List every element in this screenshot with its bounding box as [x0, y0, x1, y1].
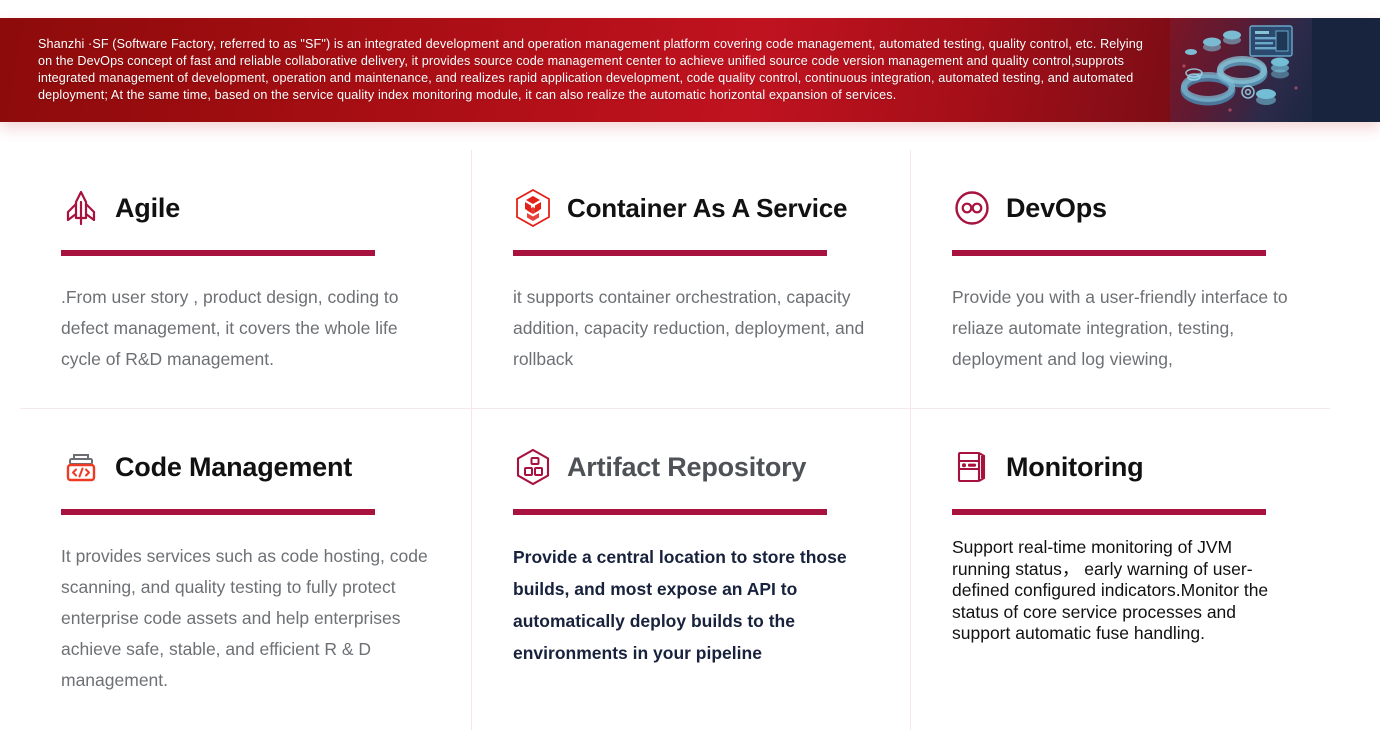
banner-description: Shanzhi ·SF (Software Factory, referred …	[0, 36, 1170, 105]
title-underline	[952, 250, 1266, 256]
cube-cluster-icon	[513, 188, 553, 228]
banner-tail-panel	[1312, 18, 1380, 122]
card-title: DevOps	[1006, 193, 1107, 223]
server-rack-icon	[952, 447, 992, 487]
feature-card-agile[interactable]: Agile .From user story , product design,…	[20, 150, 471, 409]
card-head: Code Management	[61, 437, 435, 497]
card-description: it supports container orchestration, cap…	[513, 282, 874, 375]
intro-banner: Shanzhi ·SF (Software Factory, referred …	[0, 18, 1380, 122]
feature-card-monitoring[interactable]: Monitoring Support real-time monitoring …	[910, 409, 1330, 730]
card-title: Monitoring	[1006, 452, 1143, 482]
card-head: Container As A Service	[513, 178, 874, 238]
card-description: Provide you with a user-friendly interfa…	[952, 282, 1294, 375]
feature-card-artifact-repository[interactable]: Artifact Repository Provide a central lo…	[471, 409, 910, 730]
card-head: Agile	[61, 178, 435, 238]
feature-card-container-as-a-service[interactable]: Container As A Service it supports conta…	[471, 150, 910, 409]
devops-infinity-illustration-icon	[1170, 18, 1312, 122]
title-underline	[952, 509, 1266, 515]
title-underline	[513, 509, 827, 515]
rocket-icon	[61, 188, 101, 228]
card-head: Monitoring	[952, 437, 1294, 497]
page-root: Shanzhi ·SF (Software Factory, referred …	[0, 0, 1380, 730]
card-description: .From user story , product design, codin…	[61, 282, 435, 375]
card-title: Code Management	[115, 452, 352, 482]
title-underline	[513, 250, 827, 256]
card-description: It provides services such as code hostin…	[61, 541, 435, 696]
title-underline	[61, 509, 375, 515]
feature-card-code-management[interactable]: Code Management It provides services suc…	[20, 409, 471, 730]
card-title: Container As A Service	[567, 194, 847, 223]
feature-grid: Agile .From user story , product design,…	[20, 150, 1330, 730]
feature-card-devops[interactable]: DevOps Provide you with a user-friendly …	[910, 150, 1330, 409]
banner-text-area: Shanzhi ·SF (Software Factory, referred …	[0, 18, 1170, 122]
infinity-circle-icon	[952, 188, 992, 228]
hexagon-blocks-icon	[513, 447, 553, 487]
card-head: DevOps	[952, 178, 1294, 238]
card-title: Artifact Repository	[567, 452, 806, 482]
title-underline	[61, 250, 375, 256]
code-briefcase-icon	[61, 447, 101, 487]
card-title: Agile	[115, 193, 180, 223]
card-head: Artifact Repository	[513, 437, 874, 497]
card-description: Support real-time monitoring of JVM runn…	[952, 537, 1294, 645]
card-description: Provide a central location to store thos…	[513, 541, 874, 669]
